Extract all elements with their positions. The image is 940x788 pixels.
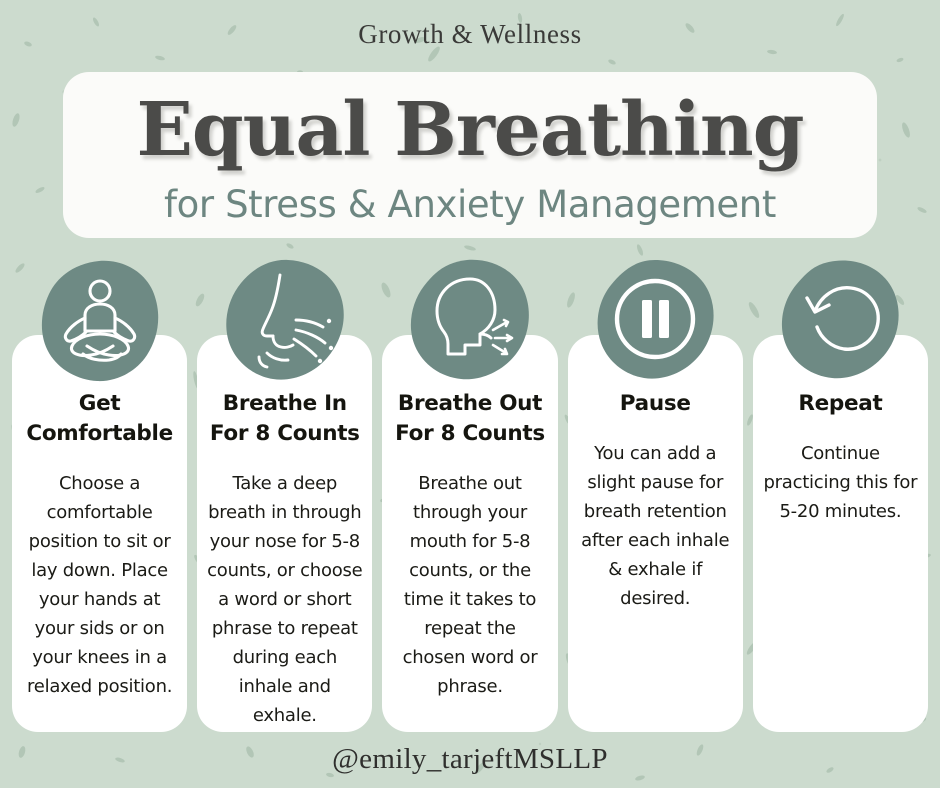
title-card: Equal Breathing for Stress & Anxiety Man… bbox=[63, 72, 877, 238]
step-card-pause[interactable]: Pause You can add a slight pause for bre… bbox=[568, 258, 743, 732]
step-card-get-comfortable[interactable]: Get Comfortable Choose a comfortable pos… bbox=[12, 258, 187, 732]
step-card-body: Repeat Continue practicing this for 5-20… bbox=[753, 335, 928, 732]
step-description: Choose a comfortable position to sit or … bbox=[21, 469, 178, 701]
step-description: You can add a slight pause for breath re… bbox=[577, 439, 734, 613]
step-title: Repeat bbox=[762, 389, 919, 419]
step-card-breathe-in[interactable]: Breathe In For 8 Counts Take a deep brea… bbox=[197, 258, 372, 732]
page-title: Equal Breathing bbox=[63, 74, 877, 186]
step-description: Continue practicing this for 5-20 minute… bbox=[762, 439, 919, 526]
page-subtitle: for Stress & Anxiety Management bbox=[63, 182, 877, 228]
step-card-body: Pause You can add a slight pause for bre… bbox=[568, 335, 743, 732]
step-description: Take a deep breath in through your nose … bbox=[206, 469, 363, 730]
pause-icon bbox=[592, 258, 718, 384]
mouth-exhale-icon bbox=[407, 258, 533, 384]
step-card-body: Breathe In For 8 Counts Take a deep brea… bbox=[197, 335, 372, 732]
step-title: Breathe In For 8 Counts bbox=[206, 389, 363, 449]
nose-inhale-icon bbox=[222, 258, 348, 384]
step-title: Pause bbox=[577, 389, 734, 419]
infographic-poster: Growth & Wellness Equal Breathing for St… bbox=[0, 0, 940, 788]
step-card-body: Get Comfortable Choose a comfortable pos… bbox=[12, 335, 187, 732]
social-handle: @emily_tarjeftMSLLP bbox=[0, 743, 940, 776]
step-description: Breathe out through your mouth for 5-8 c… bbox=[391, 469, 548, 701]
repeat-arrow-icon bbox=[777, 258, 903, 384]
brand-tagline: Growth & Wellness bbox=[0, 19, 940, 50]
steps-row: Get Comfortable Choose a comfortable pos… bbox=[12, 258, 928, 732]
step-card-repeat[interactable]: Repeat Continue practicing this for 5-20… bbox=[753, 258, 928, 732]
meditating-person-icon bbox=[37, 258, 163, 384]
step-card-breathe-out[interactable]: Breathe Out For 8 Counts Breathe out thr… bbox=[382, 258, 557, 732]
step-card-body: Breathe Out For 8 Counts Breathe out thr… bbox=[382, 335, 557, 732]
step-title: Get Comfortable bbox=[21, 389, 178, 449]
step-title: Breathe Out For 8 Counts bbox=[391, 389, 548, 449]
